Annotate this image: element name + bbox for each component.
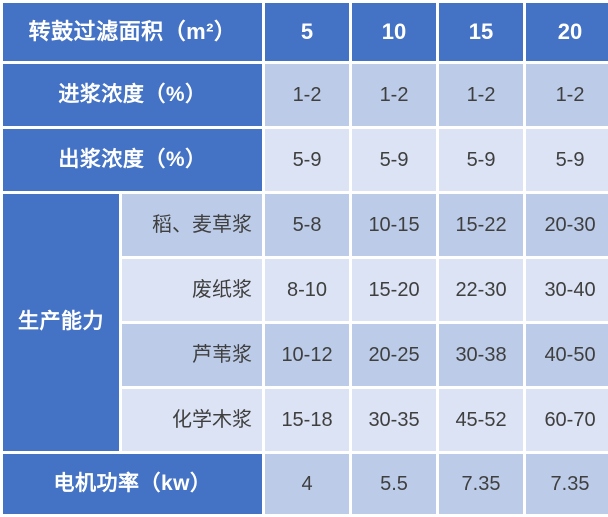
table-row: 出浆浓度（%） 5-9 5-9 5-9 5-9 <box>3 129 608 191</box>
table-cell: 7.35 <box>439 454 523 514</box>
table-cell: 5-9 <box>265 129 349 191</box>
table-row: 进浆浓度（%） 1-2 1-2 1-2 1-2 <box>3 64 608 126</box>
table-cell: 7.35 <box>526 454 608 514</box>
header-title-cell: 转鼓过滤面积（m²） <box>3 3 262 61</box>
table-cell: 30-40 <box>526 259 608 321</box>
header-column-5: 5 <box>265 3 349 61</box>
table-cell: 15-18 <box>265 389 349 451</box>
sub-row-label-reed-pulp: 芦苇浆 <box>122 324 262 386</box>
row-label-inlet-consistency: 进浆浓度（%） <box>3 64 262 126</box>
header-column-10: 10 <box>352 3 436 61</box>
table-cell: 60-70 <box>526 389 608 451</box>
row-label-production-capacity: 生产能力 <box>3 194 119 451</box>
table-row: 生产能力 稻、麦草浆 5-8 10-15 15-22 20-30 <box>3 194 608 256</box>
table-cell: 5-9 <box>526 129 608 191</box>
table-cell: 4 <box>265 454 349 514</box>
table-cell: 8-10 <box>265 259 349 321</box>
table-cell: 10-12 <box>265 324 349 386</box>
sub-row-label-waste-paper-pulp: 废纸浆 <box>122 259 262 321</box>
table-cell: 5-8 <box>265 194 349 256</box>
row-label-outlet-consistency: 出浆浓度（%） <box>3 129 262 191</box>
row-label-motor-power: 电机功率（kw） <box>3 454 262 514</box>
header-column-20: 20 <box>526 3 608 61</box>
table-header-row: 转鼓过滤面积（m²） 5 10 15 20 <box>3 3 608 61</box>
table-cell: 1-2 <box>439 64 523 126</box>
table-cell: 30-38 <box>439 324 523 386</box>
table-cell: 10-15 <box>352 194 436 256</box>
table-cell: 20-25 <box>352 324 436 386</box>
table-cell: 1-2 <box>352 64 436 126</box>
table-cell: 20-30 <box>526 194 608 256</box>
sub-row-label-chemical-wood-pulp: 化学木浆 <box>122 389 262 451</box>
header-column-15: 15 <box>439 3 523 61</box>
table-cell: 5-9 <box>439 129 523 191</box>
table-cell: 45-52 <box>439 389 523 451</box>
table-cell: 1-2 <box>526 64 608 126</box>
sub-row-label-straw-pulp: 稻、麦草浆 <box>122 194 262 256</box>
table-cell: 5.5 <box>352 454 436 514</box>
table-cell: 22-30 <box>439 259 523 321</box>
table-cell: 30-35 <box>352 389 436 451</box>
table-cell: 1-2 <box>265 64 349 126</box>
table-row: 电机功率（kw） 4 5.5 7.35 7.35 <box>3 454 608 514</box>
specification-table: 转鼓过滤面积（m²） 5 10 15 20 进浆浓度（%） 1-2 1-2 1-… <box>0 0 608 517</box>
table-cell: 15-20 <box>352 259 436 321</box>
table-cell: 15-22 <box>439 194 523 256</box>
table-cell: 40-50 <box>526 324 608 386</box>
table-cell: 5-9 <box>352 129 436 191</box>
